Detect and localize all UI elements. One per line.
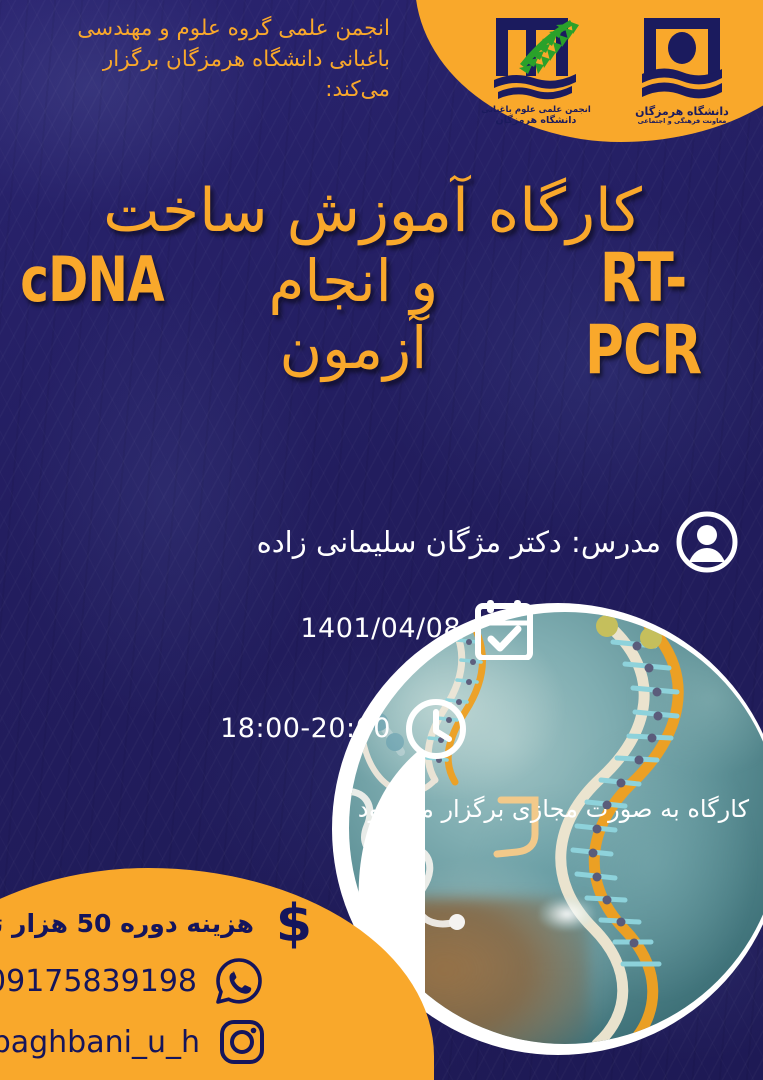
date-value: 1401/04/08 [300, 613, 461, 645]
university-caption-line-2: معاونت فرهنگی و اجتماعی [635, 118, 729, 125]
title-line-2-persian: و انجام آزمون [198, 248, 509, 381]
title-cdna: cDNA [20, 247, 164, 312]
poster-canvas: انجمن علمی گروه علوم و مهندسی باغبانی دا… [0, 0, 763, 1080]
horticulture-logo-caption: انجمن علمی علوم باغبانی دانشگاه هرمزگان [481, 106, 591, 126]
instagram-handle: baghbani_u_h [0, 1025, 200, 1060]
virtual-workshop-notice: کارگاه به صورت مجازی برگزار می‌شود [358, 795, 749, 823]
horticulture-caption-line-2: دانشگاه هرمزگان [481, 116, 591, 127]
dollar-icon: $ [272, 895, 316, 951]
title-line-2: RT-PCR و انجام آزمون cDNA [0, 243, 763, 386]
palm-book-emblem-icon [482, 10, 590, 106]
horticulture-association-logo: انجمن علمی علوم باغبانی دانشگاه هرمزگان [470, 10, 602, 126]
title-line-1: کارگاه آموزش ساخت [0, 178, 763, 245]
instructor-row: مدرس: دکتر مژگان سلیمانی زاده [257, 510, 739, 574]
clock-icon [405, 698, 467, 760]
logo-group: انجمن علمی علوم باغبانی دانشگاه هرمزگان … [470, 10, 755, 135]
university-logo-caption: دانشگاه هرمزگان معاونت فرهنگی و اجتماعی [635, 106, 729, 126]
whatsapp-number: 09175839198 [0, 964, 197, 999]
instagram-row[interactable]: baghbani_u_h [0, 1018, 266, 1066]
photo-highlight-glow [539, 897, 595, 931]
svg-text:$: $ [276, 895, 312, 951]
instagram-icon[interactable] [218, 1018, 266, 1066]
date-row: 1401/04/08 [300, 598, 533, 660]
header-announcement: انجمن علمی گروه علوم و مهندسی باغبانی دا… [50, 14, 390, 106]
header-line-2: باغبانی دانشگاه هرمزگان برگزار می‌کند: [50, 45, 390, 106]
whatsapp-row[interactable]: 09175839198 [0, 957, 263, 1005]
calendar-check-icon [475, 598, 533, 660]
header-line-1: انجمن علمی گروه علوم و مهندسی [50, 14, 390, 45]
time-row: 18:00-20:00 [220, 698, 467, 760]
price-value: هزینه دوره 50 هزار تومان [0, 909, 254, 938]
time-value: 18:00-20:00 [220, 713, 391, 745]
title-rtpcr: RT-PCR [549, 243, 736, 386]
price-row: $ هزینه دوره 50 هزار تومان [0, 895, 316, 951]
poster-title: کارگاه آموزش ساخت RT-PCR و انجام آزمون c… [0, 178, 763, 386]
whatsapp-icon[interactable] [215, 957, 263, 1005]
hormozgan-university-logo: دانشگاه هرمزگان معاونت فرهنگی و اجتماعی [616, 10, 748, 126]
book-waves-emblem-icon [632, 10, 732, 106]
dna-double-helix-photo [349, 612, 763, 1044]
dna-strand-illustrations [349, 612, 763, 1044]
instructor-name: مدرس: دکتر مژگان سلیمانی زاده [257, 525, 661, 560]
person-icon [675, 510, 739, 574]
helix-large [561, 615, 678, 1044]
